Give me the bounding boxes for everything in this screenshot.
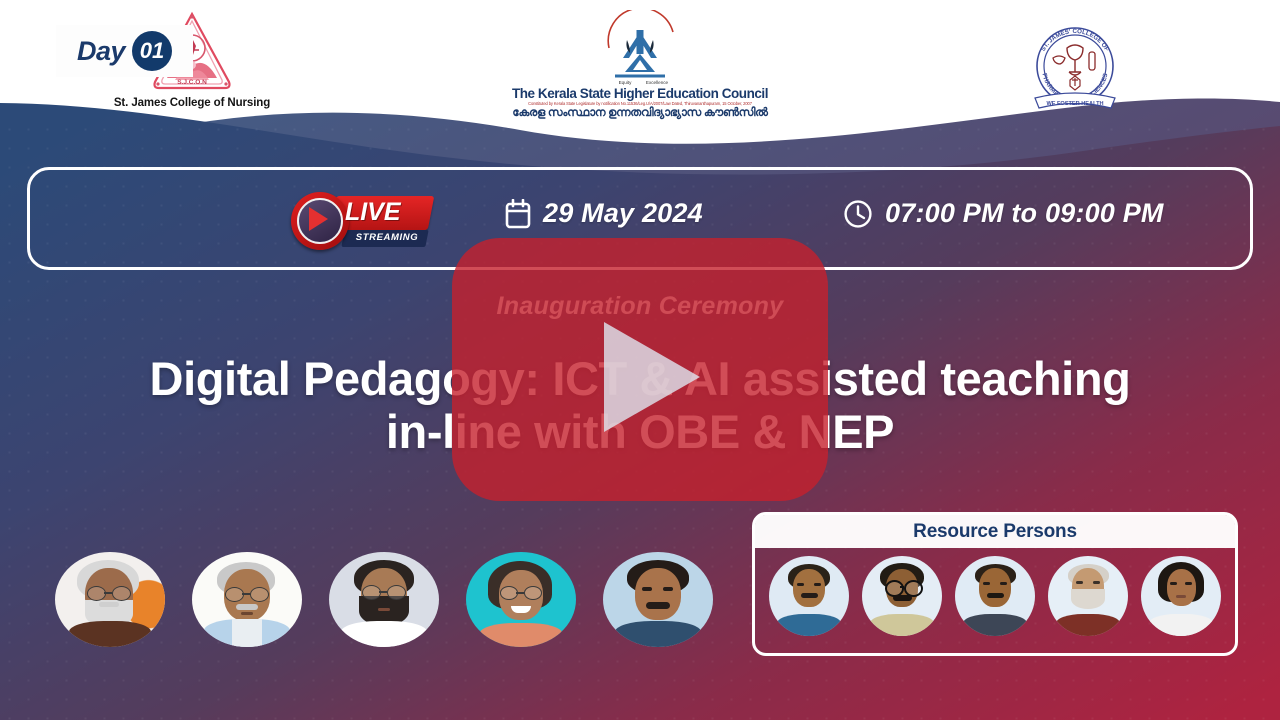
event-date-text: 29 May 2024 (543, 198, 703, 229)
resource-person-1 (769, 556, 849, 636)
nursing-monogram: S.J.C.O.N (177, 79, 207, 86)
kshec-title: The Kerala State Higher Education Counci… (500, 86, 780, 101)
play-triangle-icon (604, 322, 700, 432)
logo-nursing-caption: St. James College of Nursing (92, 97, 292, 109)
speaker-portrait-row (55, 552, 713, 647)
resource-persons-title-bar: Resource Persons (755, 515, 1235, 548)
speaker-portrait-2 (192, 552, 302, 647)
clock-icon (843, 199, 873, 229)
calendar-icon (505, 199, 531, 229)
resource-person-4 (1048, 556, 1128, 636)
pharma-ribbon-text: WE FOSTER HEALTH (1046, 101, 1103, 107)
live-play-icon (291, 192, 349, 250)
live-play-triangle (309, 207, 328, 231)
resource-persons-panel: Resource Persons (752, 512, 1238, 656)
logo-st-james-college-of-pharmaceutical-sciences: ST. JAMES' COLLEGE OF PHARMACEUTICAL SCI… (1000, 14, 1150, 118)
resource-persons-row (769, 556, 1221, 636)
live-streaming-badge: LIVE STREAMING (287, 186, 435, 254)
kshec-word-excellence: Excellence (646, 80, 669, 85)
event-poster-stage: S.J.C.O.N St. James College of Nursing E… (0, 0, 1280, 720)
resource-person-3 (955, 556, 1035, 636)
speaker-portrait-4 (466, 552, 576, 647)
play-button[interactable] (452, 238, 828, 501)
pharma-ring-text-top: ST. JAMES' COLLEGE OF (1040, 28, 1111, 53)
event-time: 07:00 PM to 09:00 PM (843, 198, 1164, 229)
resource-person-2 (862, 556, 942, 636)
kshec-malayalam-title: കേരള സംസ്ഥാന ഉന്നതവിദ്യാഭ്യാസ കൗൺസിൽ (500, 107, 780, 120)
live-label: LIVE (345, 198, 425, 227)
resource-person-5 (1141, 556, 1221, 636)
resource-persons-title: Resource Persons (913, 521, 1077, 543)
speaker-portrait-5 (603, 552, 713, 647)
day-number: 01 (132, 31, 172, 71)
kshec-emblem-icon: Equity Excellence (585, 10, 695, 86)
event-time-text: 07:00 PM to 09:00 PM (885, 198, 1164, 229)
speaker-portrait-1 (55, 552, 165, 647)
kshec-subtitle: Constituted by Kerala State Legislature … (500, 101, 780, 107)
pharmacy-seal-icon: ST. JAMES' COLLEGE OF PHARMACEUTICAL SCI… (1023, 14, 1127, 118)
day-badge: Day 01 (56, 25, 193, 77)
speaker-portrait-3 (329, 552, 439, 647)
streaming-label: STREAMING (349, 232, 425, 243)
day-label: Day (77, 36, 125, 67)
kshec-word-equity: Equity (619, 80, 632, 85)
logo-kerala-state-higher-education-council: Equity Excellence The Kerala State Highe… (500, 10, 780, 120)
event-date: 29 May 2024 (505, 198, 703, 229)
